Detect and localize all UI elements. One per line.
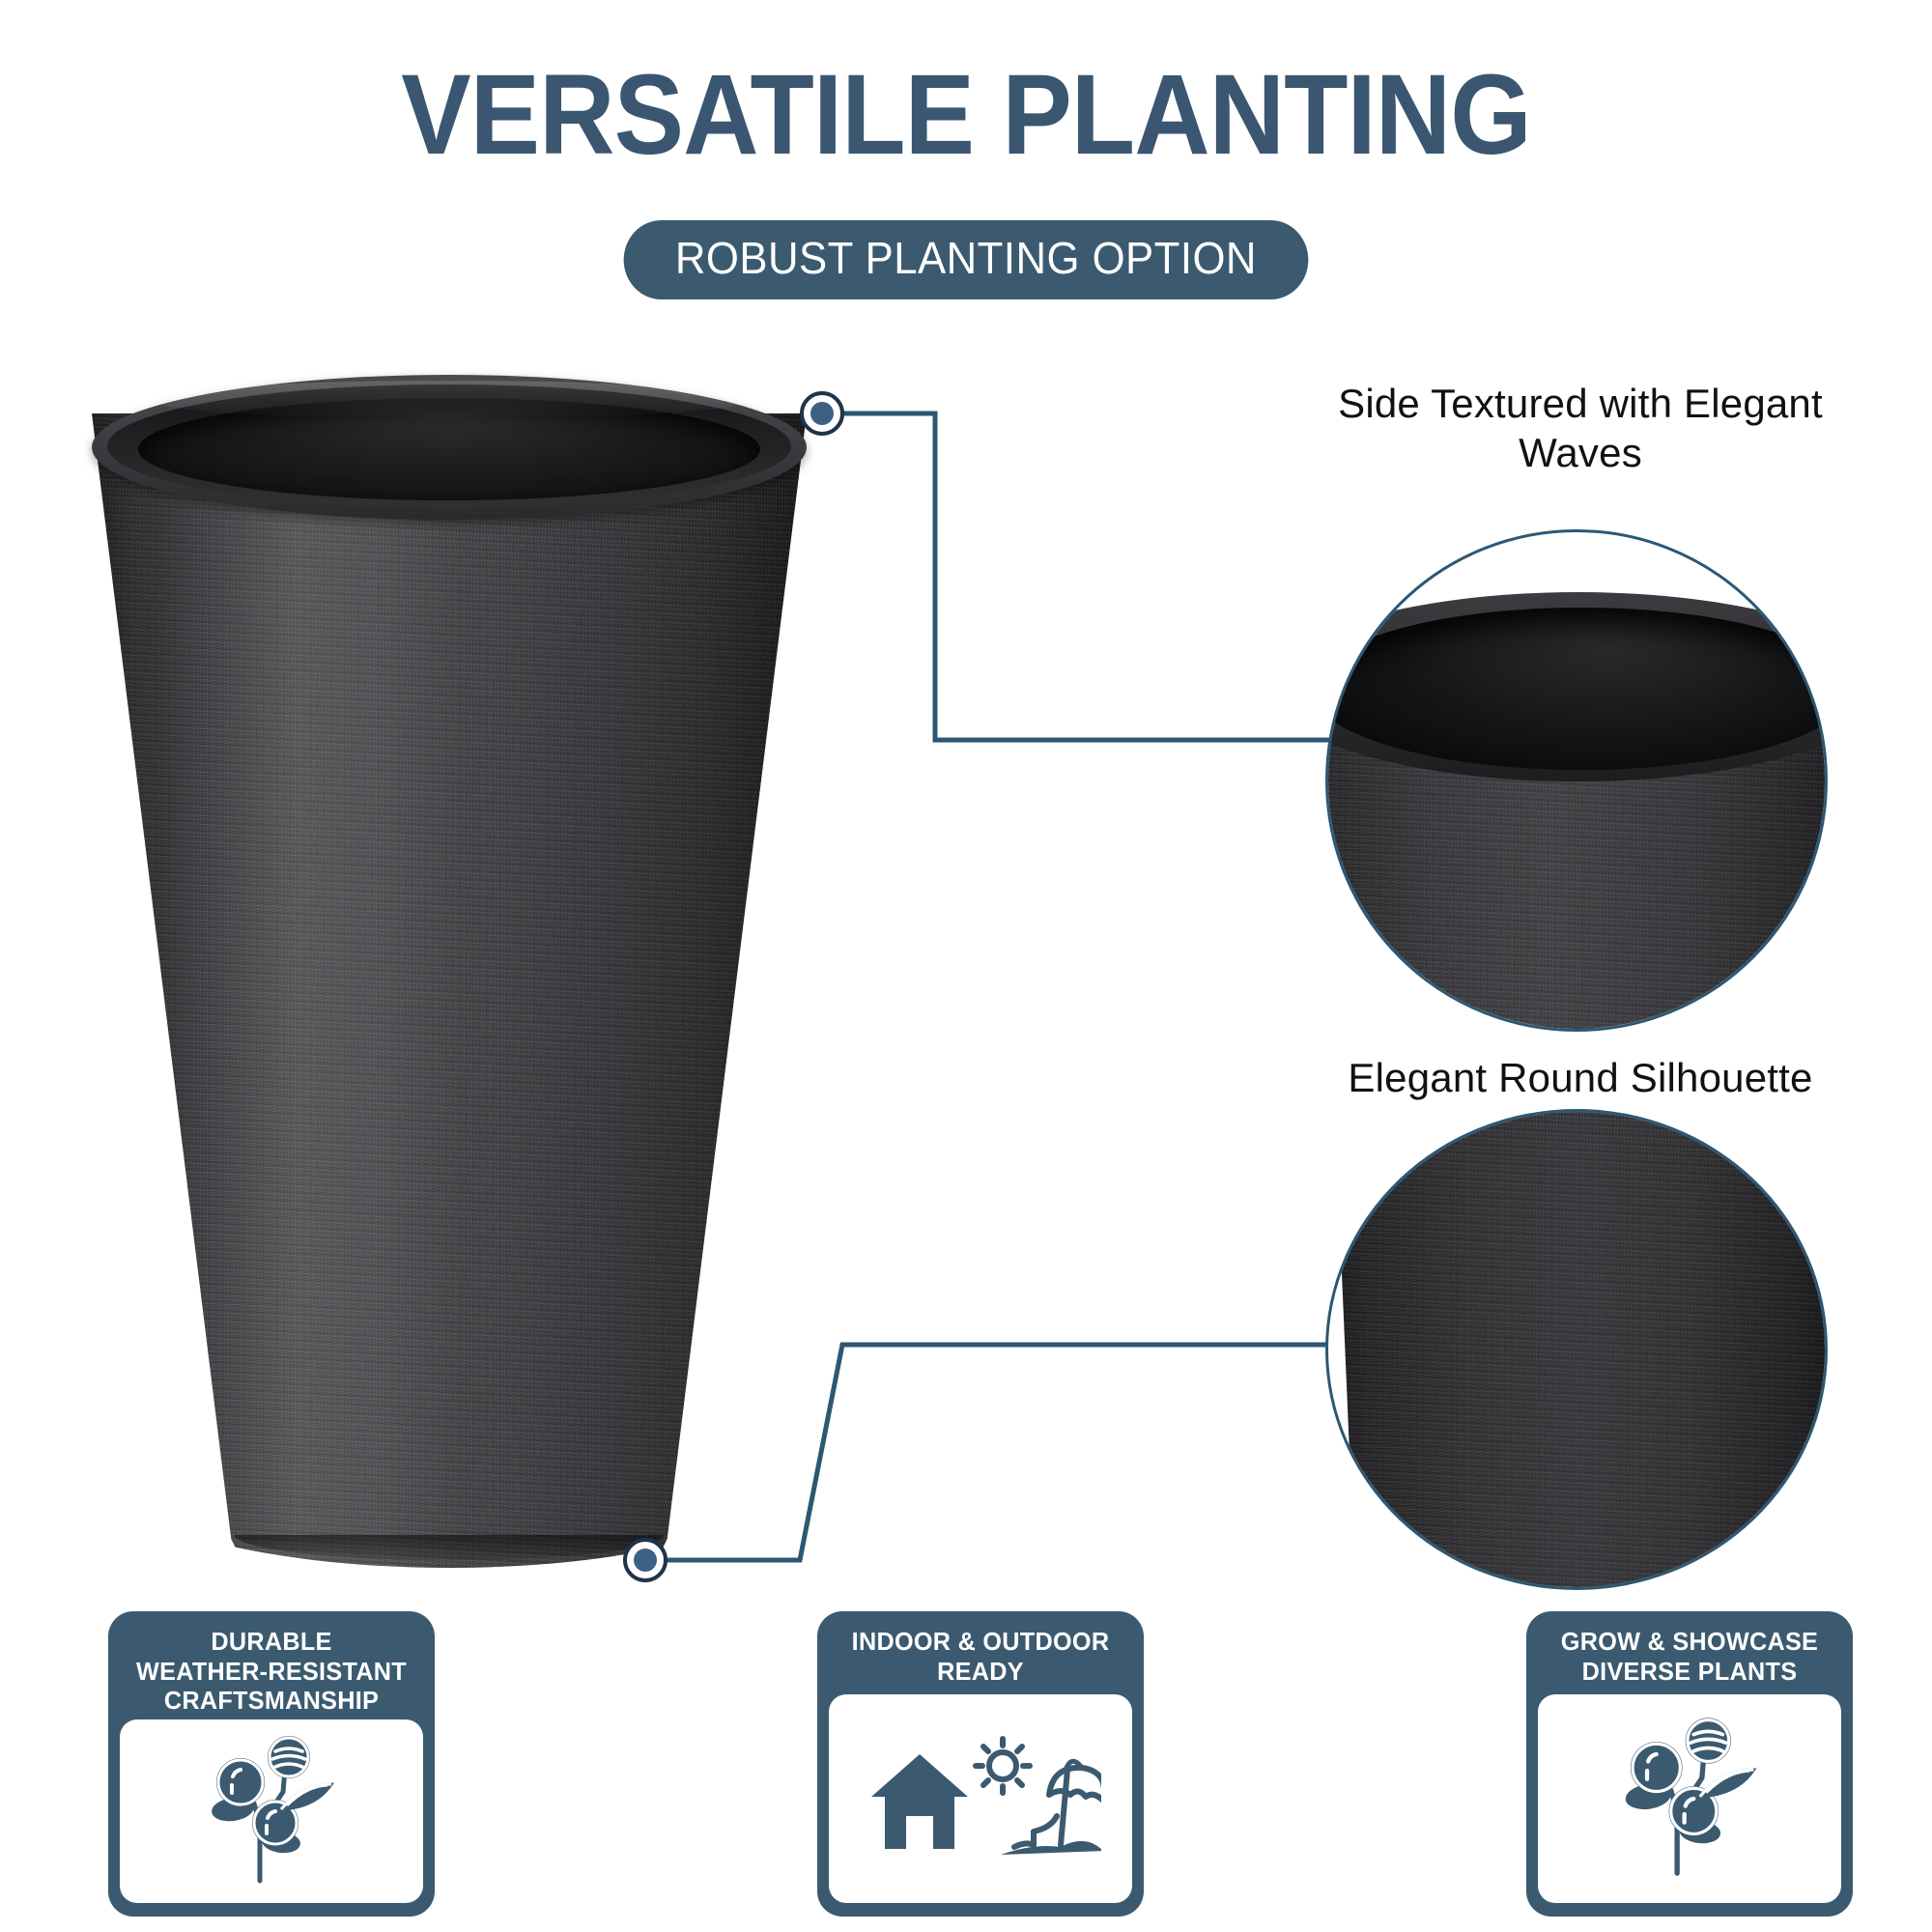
infographic-canvas: VERSATILE PLANTING ROBUST PLANTING OPTIO… [0,0,1932,1932]
detail-circle-bottom [1325,1109,1828,1590]
detail-circle-top [1325,529,1828,1032]
callout-marker-top[interactable] [800,391,844,436]
detail-bottom-texture-noise [1325,1109,1828,1590]
callout-marker-bottom[interactable] [623,1538,668,1582]
detail-bottom-drain-notch [1357,1548,1392,1564]
detail-top-cavity [1325,608,1828,770]
detail-bottom-body [1325,1109,1828,1590]
